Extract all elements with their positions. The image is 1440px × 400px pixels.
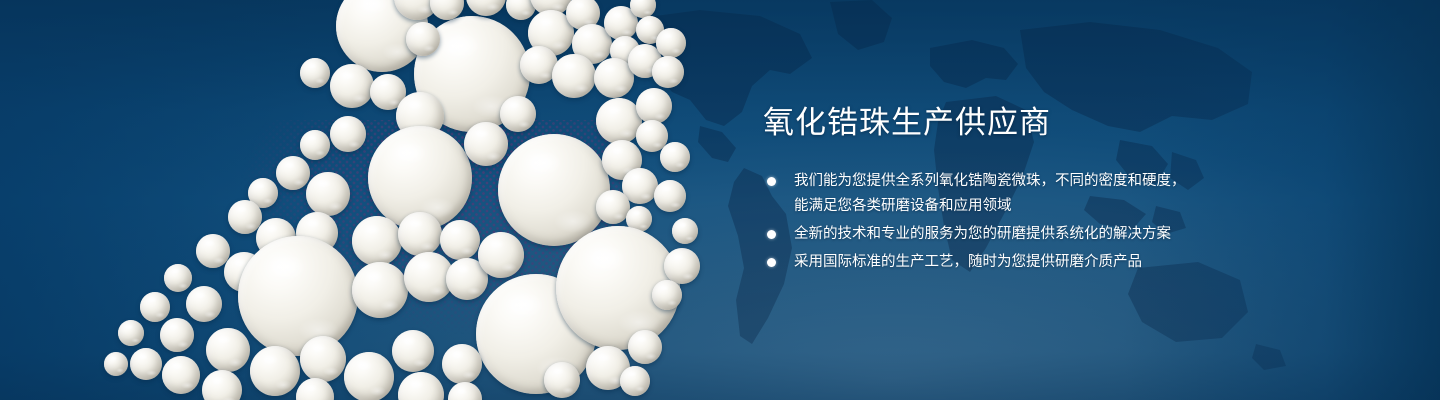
bullet-dot-icon xyxy=(767,230,776,239)
list-item-line1: 采用国际标准的生产工艺，随时为您提供研磨介质产品 xyxy=(794,254,1142,270)
list-item: 全新的技术和专业的服务为您的研磨提供系统化的解决方案 xyxy=(763,222,1233,247)
bullet-dot-icon xyxy=(767,258,776,267)
feature-list: 我们能为您提供全系列氧化锆陶瓷微珠，不同的密度和硬度， 能满足您各类研磨设备和应… xyxy=(763,169,1233,275)
list-item-line2: 能满足您各类研磨设备和应用领域 xyxy=(794,194,1233,219)
banner-copy: 氧化锆珠生产供应商 我们能为您提供全系列氧化锆陶瓷微珠，不同的密度和硬度， 能满… xyxy=(763,104,1233,278)
page-title: 氧化锆珠生产供应商 xyxy=(763,104,1233,143)
list-item-line1: 全新的技术和专业的服务为您的研磨提供系统化的解决方案 xyxy=(794,226,1171,242)
hero-banner: 氧化锆珠生产供应商 我们能为您提供全系列氧化锆陶瓷微珠，不同的密度和硬度， 能满… xyxy=(0,0,1440,400)
list-item: 采用国际标准的生产工艺，随时为您提供研磨介质产品 xyxy=(763,250,1233,275)
list-item-line1: 我们能为您提供全系列氧化锆陶瓷微珠，不同的密度和硬度， xyxy=(794,173,1186,189)
bullet-dot-icon xyxy=(767,177,776,186)
list-item: 我们能为您提供全系列氧化锆陶瓷微珠，不同的密度和硬度， 能满足您各类研磨设备和应… xyxy=(763,169,1233,219)
